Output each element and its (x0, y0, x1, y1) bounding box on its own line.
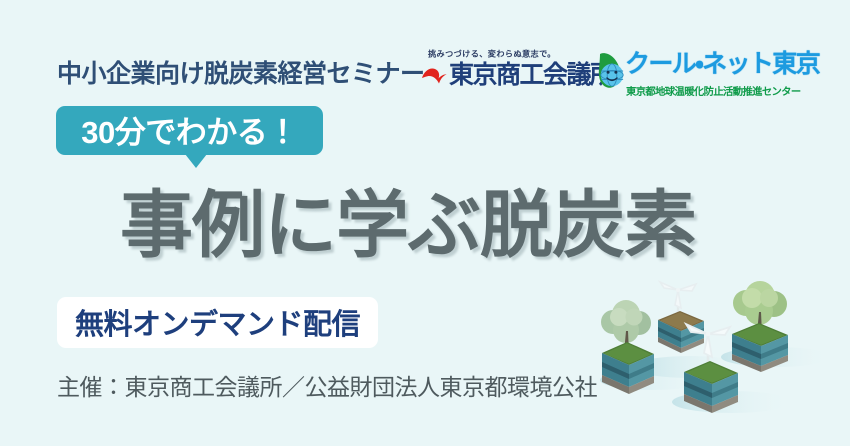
tcci-wordmark-row: 東京商工会議所 (420, 62, 614, 88)
cool-net-tokyo-logo: クール・ネット東京 東京都地球温暖化防止活動推進センター (597, 48, 819, 103)
cool-net-tokyo-subtitle: 東京都地球温暖化防止活動推進センター (626, 84, 801, 99)
page-title: 中小企業向け脱炭素経営セミナー (57, 54, 425, 90)
eco-land-cubes-illustration (580, 272, 835, 424)
tcci-swoosh-icon (420, 62, 448, 88)
tokyo-chamber-of-commerce-logo: 挑みつづける、変わらぬ意志で。 東京商工会議所 (420, 48, 590, 100)
tcci-tagline: 挑みつづける、変わらぬ意志で。 (428, 48, 556, 60)
tree-cube-right (732, 281, 788, 372)
duration-badge: 30分でわかる！ (56, 106, 323, 155)
seminar-banner: 中小企業向け脱炭素経営セミナー 挑みつづける、変わらぬ意志で。 東京商工会議所 (0, 0, 850, 446)
tree-cube-left (601, 300, 654, 394)
wind-turbine-cube (658, 282, 704, 353)
duration-badge-label: 30分でわかる！ (56, 106, 323, 155)
main-title: 事例に学ぶ脱炭素 (120, 182, 696, 270)
ondemand-badge: 無料オンデマンド配信 (57, 297, 378, 348)
ondemand-badge-label: 無料オンデマンド配信 (57, 297, 378, 348)
organizer-line: 主催：東京商工会議所／公益財団法人東京都環境公社 (57, 368, 597, 402)
tcci-name: 東京商工会議所 (449, 63, 614, 88)
duration-badge-tail (185, 154, 207, 168)
cool-net-tokyo-name: クール・ネット東京 (625, 52, 819, 77)
